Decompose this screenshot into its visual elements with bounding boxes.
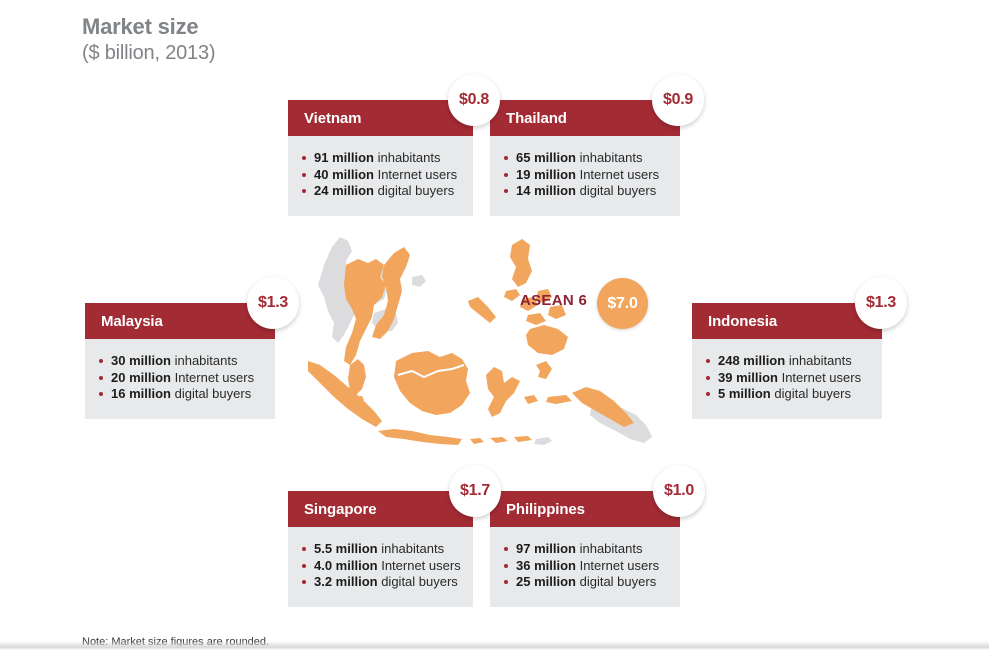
country-name-indonesia: Indonesia xyxy=(708,313,777,330)
stat-label: digital buyers xyxy=(580,183,657,198)
stat-value: 5 million xyxy=(718,386,771,401)
card-body-philippines: 97 million inhabitants 36 million Intern… xyxy=(490,527,680,607)
stat-label: digital buyers xyxy=(580,574,657,589)
stat-label: inhabitants xyxy=(789,353,852,368)
stat-label: Internet users xyxy=(782,370,862,385)
stat-item-digital-buyers: 24 million digital buyers xyxy=(302,183,468,200)
stat-label: digital buyers xyxy=(381,574,458,589)
stat-label: inhabitants xyxy=(378,150,441,165)
market-size-value-indonesia: $1.3 xyxy=(866,294,896,312)
stat-item-digital-buyers: 3.2 million digital buyers xyxy=(302,574,468,591)
stat-label: inhabitants xyxy=(175,353,238,368)
stat-value: 36 million xyxy=(516,558,576,573)
southeast-asia-map xyxy=(300,225,700,475)
card-body-vietnam: 91 million inhabitants 40 million Intern… xyxy=(288,136,478,216)
country-name-vietnam: Vietnam xyxy=(304,110,361,127)
stat-label: Internet users xyxy=(378,167,458,182)
card-body-malaysia: 30 million inhabitants 20 million Intern… xyxy=(85,339,275,419)
map-member-countries xyxy=(308,239,634,445)
card-header-malaysia: Malaysia xyxy=(85,303,275,339)
stat-label: digital buyers xyxy=(175,386,252,401)
stat-value: 248 million xyxy=(718,353,785,368)
country-name-thailand: Thailand xyxy=(506,110,567,127)
stat-item-digital-buyers: 5 million digital buyers xyxy=(706,386,872,403)
stat-label: Internet users xyxy=(381,558,461,573)
stat-item-digital-buyers: 14 million digital buyers xyxy=(504,183,670,200)
stat-value: 24 million xyxy=(314,183,374,198)
market-size-value-malaysia: $1.3 xyxy=(258,294,288,312)
stat-label: digital buyers xyxy=(774,386,851,401)
stat-label: Internet users xyxy=(580,167,660,182)
card-header-thailand: Thailand xyxy=(490,100,680,136)
card-header-indonesia: Indonesia xyxy=(692,303,882,339)
stat-value: 3.2 million xyxy=(314,574,378,589)
market-size-badge-philippines: $1.0 xyxy=(653,465,705,517)
page-title: Market size ($ billion, 2013) xyxy=(82,14,215,66)
market-size-badge-singapore: $1.7 xyxy=(449,465,501,517)
country-name-malaysia: Malaysia xyxy=(101,313,163,330)
stat-item-inhabitants: 97 million inhabitants xyxy=(504,541,670,558)
badge-stalk-top xyxy=(473,110,485,228)
asean-total-label: ASEAN 6 xyxy=(520,292,587,309)
stat-label: Internet users xyxy=(175,370,255,385)
market-size-value-thailand: $0.9 xyxy=(663,91,693,109)
stat-list-malaysia: 30 million inhabitants 20 million Intern… xyxy=(99,353,265,403)
market-size-value-vietnam: $0.8 xyxy=(459,91,489,109)
title-main: Market size xyxy=(82,14,215,40)
country-name-philippines: Philippines xyxy=(506,501,585,518)
country-card-thailand[interactable]: Thailand 65 million inhabitants 19 milli… xyxy=(490,100,680,216)
stat-label: Internet users xyxy=(580,558,660,573)
stat-value: 97 million xyxy=(516,541,576,556)
stat-item-inhabitants: 5.5 million inhabitants xyxy=(302,541,468,558)
stat-value: 91 million xyxy=(314,150,374,165)
stat-value: 65 million xyxy=(516,150,576,165)
country-card-indonesia[interactable]: Indonesia 248 million inhabitants 39 mil… xyxy=(692,303,882,419)
stat-value: 19 million xyxy=(516,167,576,182)
card-header-philippines: Philippines xyxy=(490,491,680,527)
stat-label: inhabitants xyxy=(381,541,444,556)
stat-item-internet-users: 36 million Internet users xyxy=(504,558,670,575)
stat-list-thailand: 65 million inhabitants 19 million Intern… xyxy=(504,150,670,200)
stat-value: 25 million xyxy=(516,574,576,589)
infographic-root: Market size ($ billion, 2013) xyxy=(0,0,989,650)
card-body-thailand: 65 million inhabitants 19 million Intern… xyxy=(490,136,680,216)
market-size-badge-malaysia: $1.3 xyxy=(247,277,299,329)
stat-label: digital buyers xyxy=(378,183,455,198)
asean-total-badge: $7.0 xyxy=(597,278,648,329)
stat-label: inhabitants xyxy=(580,150,643,165)
bottom-divider xyxy=(0,641,989,650)
market-size-badge-thailand: $0.9 xyxy=(652,74,704,126)
stat-item-digital-buyers: 25 million digital buyers xyxy=(504,574,670,591)
stat-item-digital-buyers: 16 million digital buyers xyxy=(99,386,265,403)
stat-item-internet-users: 40 million Internet users xyxy=(302,167,468,184)
stat-value: 4.0 million xyxy=(314,558,378,573)
stat-list-singapore: 5.5 million inhabitants 4.0 million Inte… xyxy=(302,541,468,591)
title-subtitle: ($ billion, 2013) xyxy=(82,42,215,66)
country-card-vietnam[interactable]: Vietnam 91 million inhabitants 40 millio… xyxy=(288,100,478,216)
stat-item-inhabitants: 30 million inhabitants xyxy=(99,353,265,370)
stat-value: 39 million xyxy=(718,370,778,385)
stat-item-inhabitants: 65 million inhabitants xyxy=(504,150,670,167)
stat-value: 14 million xyxy=(516,183,576,198)
country-card-singapore[interactable]: Singapore 5.5 million inhabitants 4.0 mi… xyxy=(288,491,478,607)
market-size-value-singapore: $1.7 xyxy=(460,482,490,500)
stat-label: inhabitants xyxy=(580,541,643,556)
country-card-malaysia[interactable]: Malaysia 30 million inhabitants 20 milli… xyxy=(85,303,275,419)
stat-item-internet-users: 4.0 million Internet users xyxy=(302,558,468,575)
stat-item-inhabitants: 91 million inhabitants xyxy=(302,150,468,167)
stat-list-vietnam: 91 million inhabitants 40 million Intern… xyxy=(302,150,468,200)
stat-list-philippines: 97 million inhabitants 36 million Intern… xyxy=(504,541,670,591)
country-card-philippines[interactable]: Philippines 97 million inhabitants 36 mi… xyxy=(490,491,680,607)
stat-value: 16 million xyxy=(111,386,171,401)
stat-value: 40 million xyxy=(314,167,374,182)
stat-value: 5.5 million xyxy=(314,541,378,556)
market-size-value-philippines: $1.0 xyxy=(664,482,694,500)
stat-item-inhabitants: 248 million inhabitants xyxy=(706,353,872,370)
stat-item-internet-users: 20 million Internet users xyxy=(99,370,265,387)
stat-item-internet-users: 39 million Internet users xyxy=(706,370,872,387)
card-body-singapore: 5.5 million inhabitants 4.0 million Inte… xyxy=(288,527,478,607)
country-name-singapore: Singapore xyxy=(304,501,376,518)
stat-value: 20 million xyxy=(111,370,171,385)
stat-list-indonesia: 248 million inhabitants 39 million Inter… xyxy=(706,353,872,403)
stat-item-internet-users: 19 million Internet users xyxy=(504,167,670,184)
card-body-indonesia: 248 million inhabitants 39 million Inter… xyxy=(692,339,882,419)
market-size-badge-vietnam: $0.8 xyxy=(448,74,500,126)
market-size-badge-indonesia: $1.3 xyxy=(855,277,907,329)
stat-value: 30 million xyxy=(111,353,171,368)
asean-total-value: $7.0 xyxy=(607,295,637,313)
